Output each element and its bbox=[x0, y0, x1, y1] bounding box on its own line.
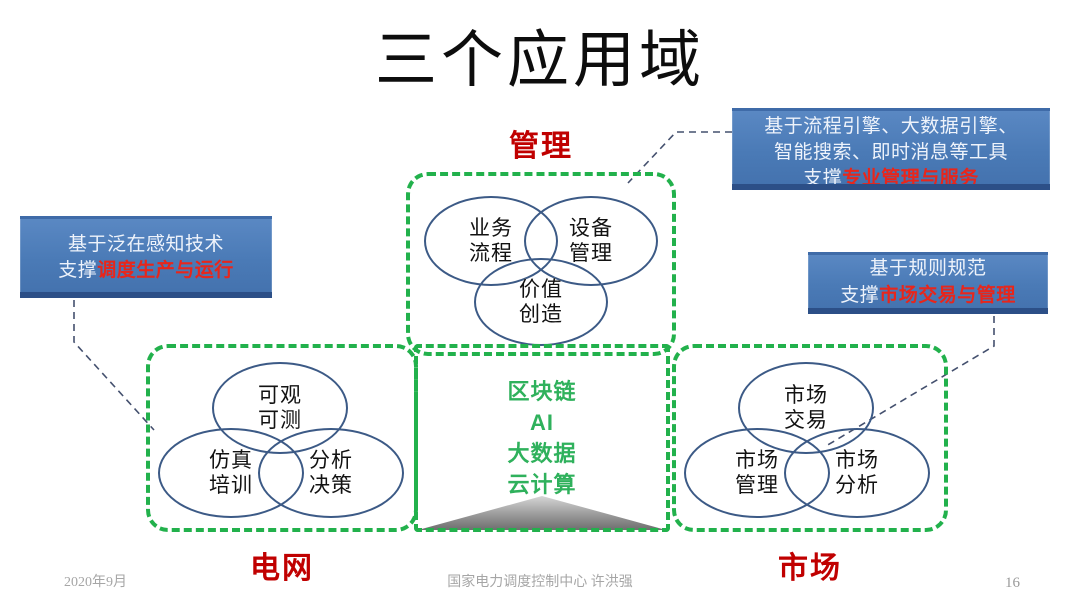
ellipse-label: 分析 决策 bbox=[309, 448, 353, 498]
callout-management: 基于流程引擎、大数据引擎、 智能搜索、即时消息等工具 支撑专业管理与服务 bbox=[732, 108, 1050, 190]
callout-market-text: 基于规则规范 支撑市场交易与管理 bbox=[808, 252, 1048, 316]
platform-stack-item-0: 区块链 bbox=[414, 376, 670, 407]
footer-page-number: 16 bbox=[1005, 574, 1020, 592]
ellipse-label: 业务 流程 bbox=[469, 216, 513, 266]
callout-grid-line2: 支撑调度生产与运行 bbox=[28, 258, 264, 284]
callout-grid-text: 基于泛在感知技术 支撑调度生产与运行 bbox=[20, 216, 272, 291]
callout-top-bar bbox=[20, 216, 272, 219]
leader-line-grid bbox=[74, 300, 154, 430]
platform-stack-item-3: 云计算 bbox=[414, 469, 670, 500]
ellipse-label: 可观 可测 bbox=[258, 383, 302, 433]
callout-top-bar bbox=[732, 108, 1050, 111]
callout-grid-line2-prefix: 支撑 bbox=[58, 260, 97, 281]
ellipse-market-analysis: 市场 分析 bbox=[784, 428, 930, 518]
platform-stack-list: 区块链 AI 大数据 云计算 bbox=[414, 376, 670, 500]
callout-top-bar bbox=[808, 252, 1048, 255]
callout-management-line2: 智能搜索、即时消息等工具 bbox=[740, 140, 1042, 166]
page-title: 三个应用域 bbox=[0, 24, 1080, 98]
ellipse-label: 市场 分析 bbox=[835, 448, 879, 498]
callout-grid: 基于泛在感知技术 支撑调度生产与运行 bbox=[20, 216, 272, 298]
callout-management-line1: 基于流程引擎、大数据引擎、 bbox=[740, 114, 1042, 140]
group-label-management: 管理 bbox=[406, 130, 676, 164]
footer-organization: 国家电力调度控制中心 许洪强 bbox=[0, 574, 1080, 592]
platform-stack-item-2: 大数据 bbox=[414, 438, 670, 469]
callout-market-line2: 支撑市场交易与管理 bbox=[816, 282, 1040, 309]
ellipse-label: 市场 管理 bbox=[735, 448, 779, 498]
callout-bottom-bar bbox=[732, 184, 1050, 190]
callout-grid-emphasis: 调度生产与运行 bbox=[97, 260, 234, 281]
ellipse-analysis-decision: 分析 决策 bbox=[258, 428, 404, 518]
callout-grid-line1: 基于泛在感知技术 bbox=[28, 232, 264, 258]
slide-canvas: 三个应用域 基于流程引擎、大数据引擎、 智能搜索、即时消息等工具 支撑专业 bbox=[0, 0, 1080, 608]
ellipse-value-creation: 价值 创造 bbox=[474, 258, 608, 346]
callout-market: 基于规则规范 支撑市场交易与管理 bbox=[808, 252, 1048, 314]
callout-bottom-bar bbox=[808, 308, 1048, 314]
ellipse-label: 市场 交易 bbox=[784, 383, 828, 433]
ellipse-label: 价值 创造 bbox=[519, 277, 563, 327]
callout-market-line2-prefix: 支撑 bbox=[840, 285, 879, 306]
ellipse-label: 仿真 培训 bbox=[209, 448, 253, 498]
ellipse-label: 设备 管理 bbox=[569, 216, 613, 266]
callout-market-emphasis: 市场交易与管理 bbox=[879, 285, 1016, 306]
platform-stack-item-1: AI bbox=[414, 407, 670, 438]
callout-bottom-bar bbox=[20, 292, 272, 298]
callout-market-line1: 基于规则规范 bbox=[816, 255, 1040, 282]
